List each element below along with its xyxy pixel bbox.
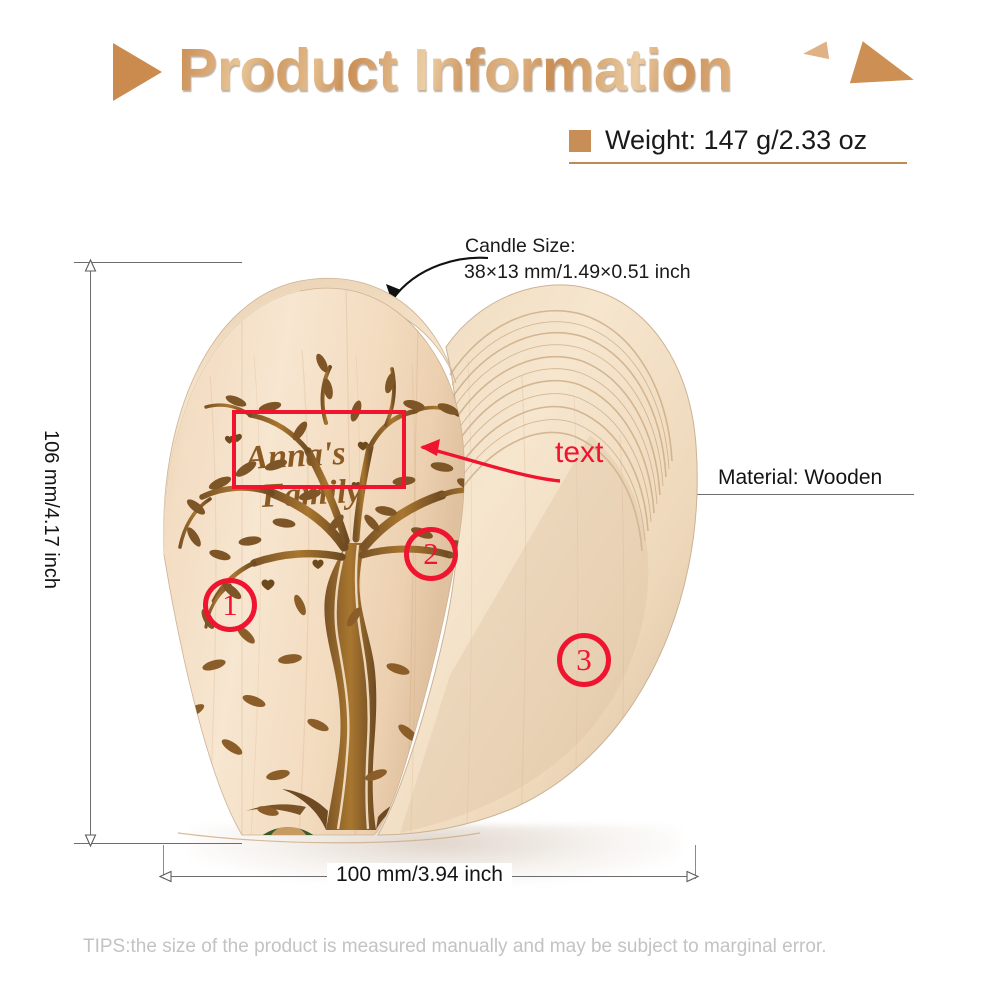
photo-marker-2: 2 bbox=[404, 527, 458, 581]
photo-marker-1: 1 bbox=[203, 578, 257, 632]
height-dim-extension-bottom bbox=[74, 843, 242, 844]
triangle-right-icon-right bbox=[850, 41, 920, 101]
width-dimension-label: 100 mm/3.94 inch bbox=[327, 863, 512, 887]
weight-value: Weight: 147 g/2.33 oz bbox=[605, 125, 867, 156]
engraved-text-highlight-box bbox=[232, 410, 406, 489]
height-dimension-label: 106 mm/4.17 inch bbox=[39, 430, 62, 670]
material-label: Material: Wooden bbox=[718, 466, 882, 490]
triangle-left-small-icon bbox=[802, 41, 829, 62]
height-dim-arrowheads bbox=[83, 258, 99, 850]
square-bullet-icon bbox=[569, 130, 591, 152]
text-callout-arrow bbox=[400, 425, 630, 505]
photo-marker-3: 3 bbox=[557, 633, 611, 687]
page-title: Product Information bbox=[178, 36, 732, 104]
product-information-page: Product Information Weight: 147 g/2.33 o… bbox=[0, 0, 1000, 1000]
weight-spec-row: Weight: 147 g/2.33 oz bbox=[569, 125, 867, 156]
height-dim-extension-top bbox=[74, 262, 242, 263]
weight-underline-divider bbox=[569, 162, 907, 164]
tips-footer-text: TIPS:the size of the product is measured… bbox=[83, 936, 826, 958]
triangle-right-icon-left bbox=[113, 43, 162, 101]
